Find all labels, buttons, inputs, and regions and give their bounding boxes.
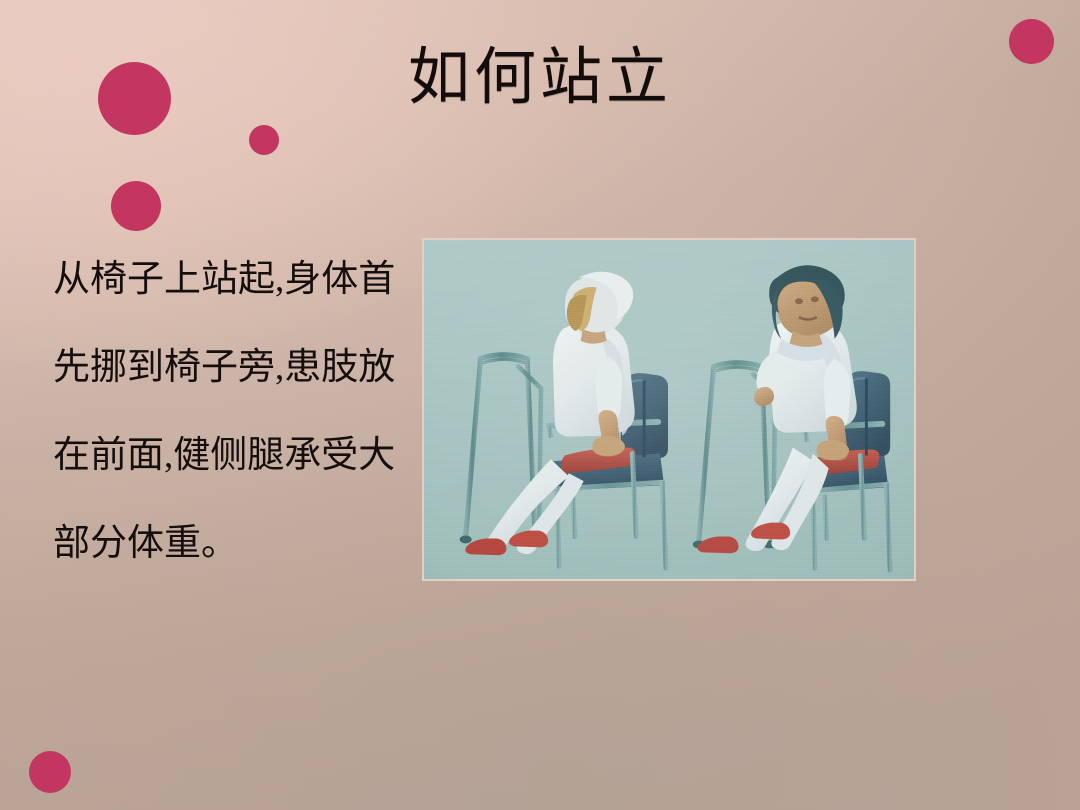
decorative-circle-bottom-left (29, 751, 71, 793)
slide-title: 如何站立 (0, 47, 1080, 109)
decorative-circle-medium-left (111, 181, 161, 231)
body-text-line: 从椅子上站起,身体首 (53, 236, 413, 324)
presentation-slide: 如何站立 从椅子上站起,身体首 先挪到椅子旁,患肢放 在前面,健侧腿承受大 部分… (0, 0, 1080, 810)
slide-body-text: 从椅子上站起,身体首 先挪到椅子旁,患肢放 在前面,健侧腿承受大 部分体重。 (53, 236, 413, 588)
illustration-image (422, 238, 916, 581)
body-text-line: 先挪到椅子旁,患肢放 (53, 324, 413, 412)
body-text-line: 部分体重。 (53, 500, 413, 588)
decorative-circle-small-upper-left (249, 125, 279, 155)
body-text-line: 在前面,健侧腿承受大 (53, 412, 413, 500)
illustration-artwork (424, 240, 914, 579)
